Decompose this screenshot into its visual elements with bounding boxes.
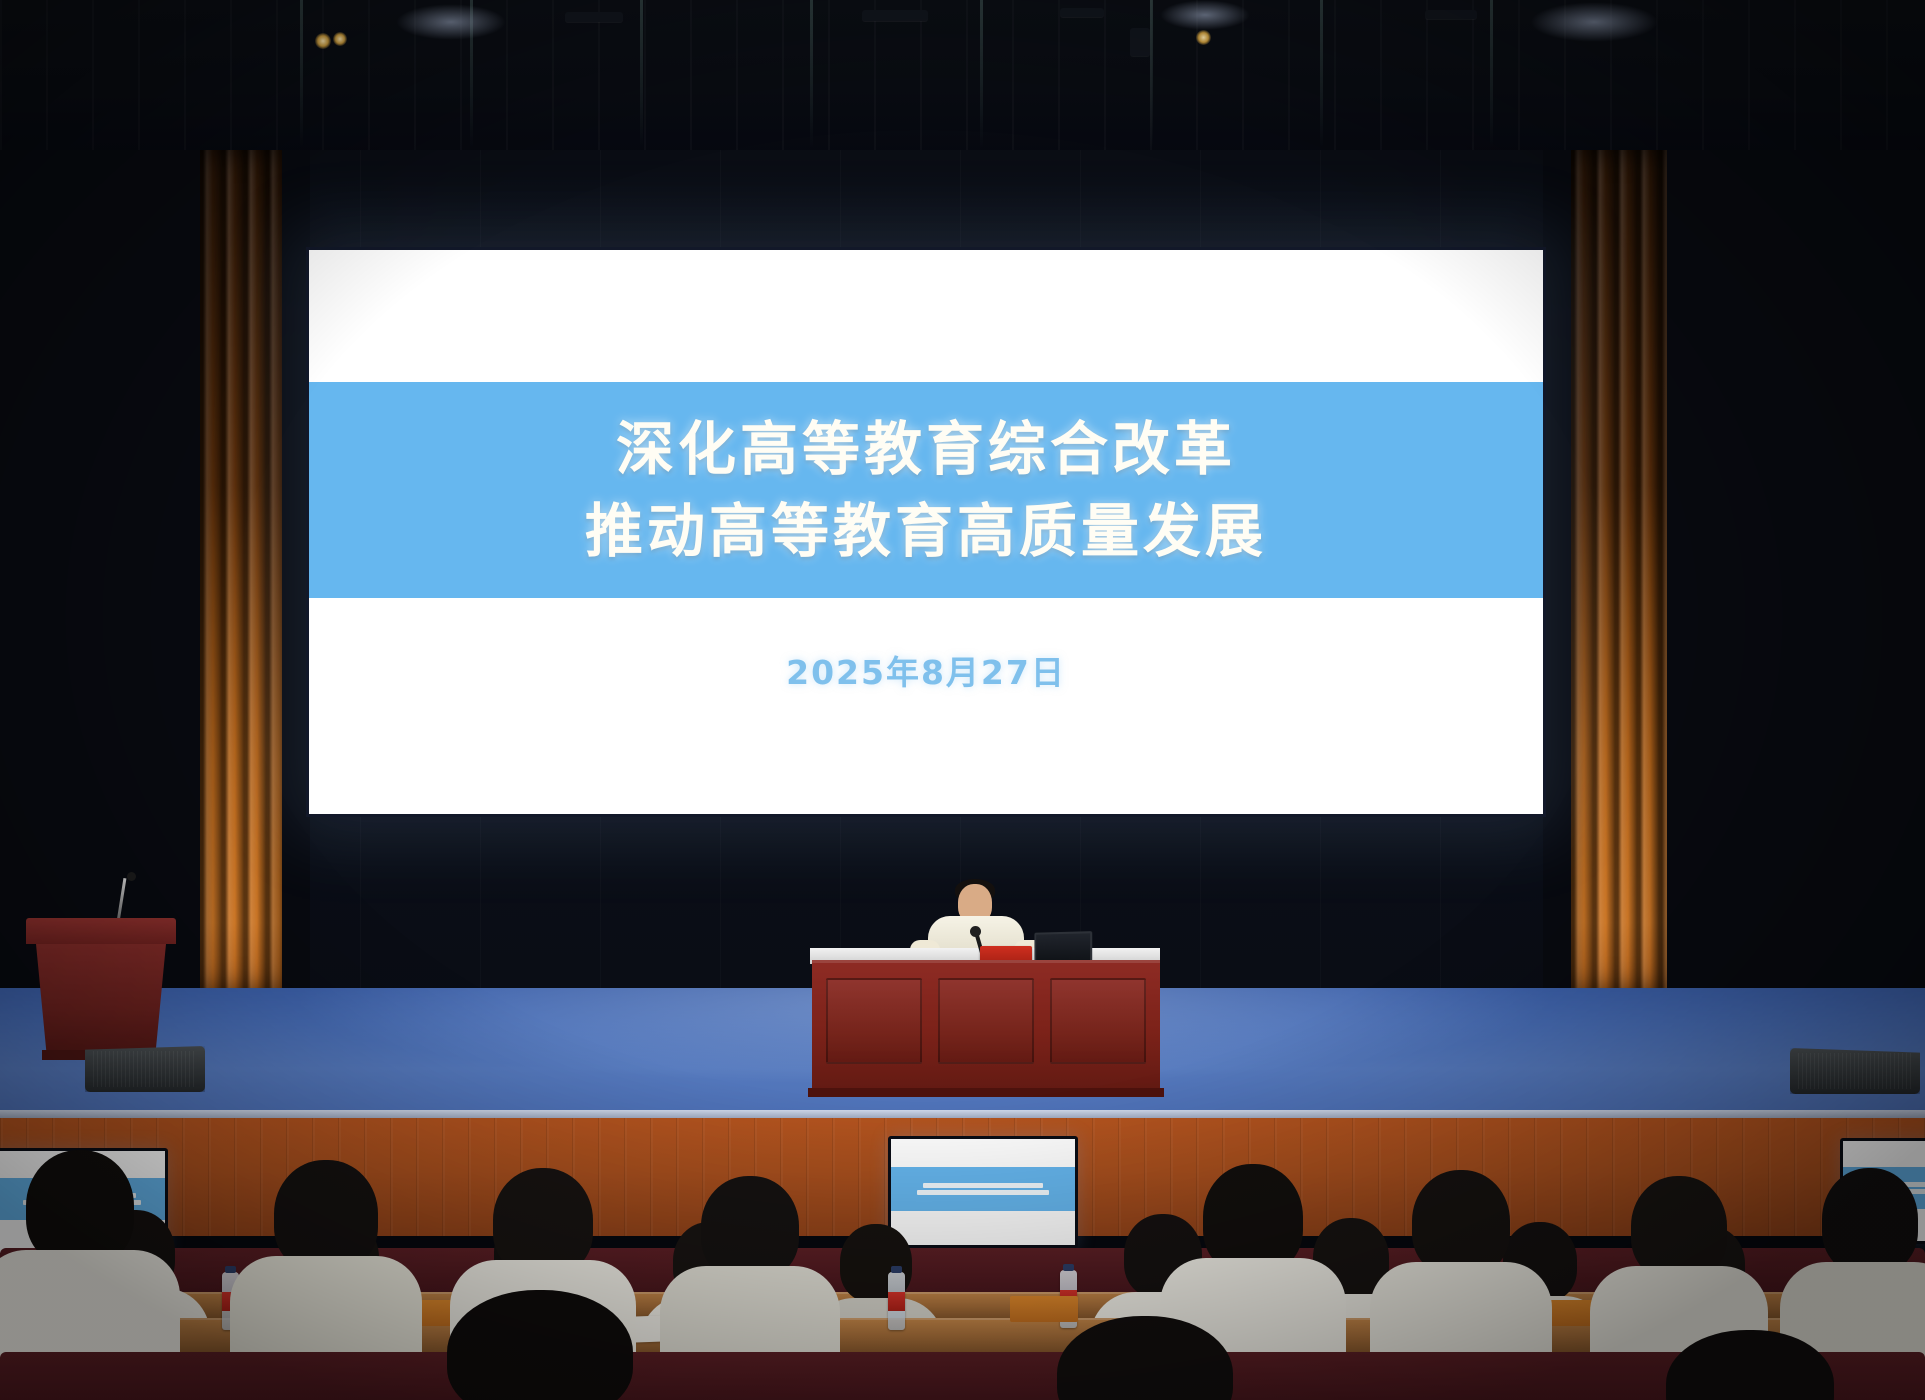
- ceiling-fixture: [565, 12, 623, 22]
- desk-microphone-icon: [970, 926, 981, 937]
- audience-head: [1057, 1316, 1233, 1400]
- stage-light: [315, 33, 331, 49]
- speaker-grill: [93, 1051, 197, 1087]
- stage-monitor-right: [1790, 1048, 1920, 1094]
- presentation-slide: 深化高等教育综合改革 推动高等教育高质量发展 2025年8月27日: [309, 250, 1543, 814]
- stage-curtain-right: [1571, 150, 1667, 990]
- lectern-top: [26, 918, 176, 944]
- stage-light: [1196, 30, 1211, 45]
- audience-head: [1666, 1330, 1834, 1400]
- lectern: [36, 944, 166, 1052]
- ceiling-fixture: [1425, 10, 1477, 19]
- ceiling-glow: [1160, 0, 1250, 30]
- audience-head: [26, 1150, 134, 1266]
- audience-head: [1631, 1176, 1727, 1280]
- audience-member-foreground: [1030, 1316, 1260, 1400]
- slide-title-line-1: 深化高等教育综合改革: [616, 408, 1236, 490]
- stage-light: [333, 32, 347, 46]
- ceiling-glow: [396, 4, 506, 40]
- slide-title-band: 深化高等教育综合改革 推动高等教育高质量发展: [309, 382, 1543, 598]
- stage-curtain-left: [200, 150, 282, 990]
- stage-monitor-left: [85, 1046, 205, 1092]
- audience-member-foreground: [420, 1290, 660, 1400]
- slide-title-line-2: 推动高等教育高质量发展: [585, 490, 1267, 572]
- stage-masking-right: [1664, 150, 1925, 1010]
- presenter-table: [812, 960, 1160, 1090]
- audience-head: [447, 1290, 633, 1400]
- audience-head: [701, 1176, 799, 1280]
- ceiling-fixture: [1060, 8, 1104, 17]
- microphone-icon: [127, 872, 136, 881]
- slide-top-margin: [309, 250, 1543, 382]
- slide-bottom-area: 2025年8月27日: [309, 598, 1543, 814]
- ceiling-fixture: [862, 10, 928, 21]
- auditorium-photo: 深化高等教育综合改革 推动高等教育高质量发展 2025年8月27日: [0, 0, 1925, 1400]
- audience-chair-row-front: [0, 1352, 1925, 1400]
- presenter-table-base: [808, 1088, 1164, 1097]
- audience-head: [1822, 1168, 1918, 1274]
- stage-masking-left: [0, 150, 205, 1010]
- slide-date: 2025年8月27日: [309, 646, 1543, 694]
- ceiling-glow: [1530, 2, 1658, 42]
- audience-head: [1412, 1170, 1510, 1276]
- ceiling-fixture: [1130, 28, 1150, 56]
- ceiling: [0, 0, 1925, 160]
- speaker-grill: [1798, 1053, 1912, 1089]
- audience-member-foreground: [1640, 1330, 1860, 1400]
- projection-screen: 深化高等教育综合改革 推动高等教育高质量发展 2025年8月27日: [306, 247, 1546, 817]
